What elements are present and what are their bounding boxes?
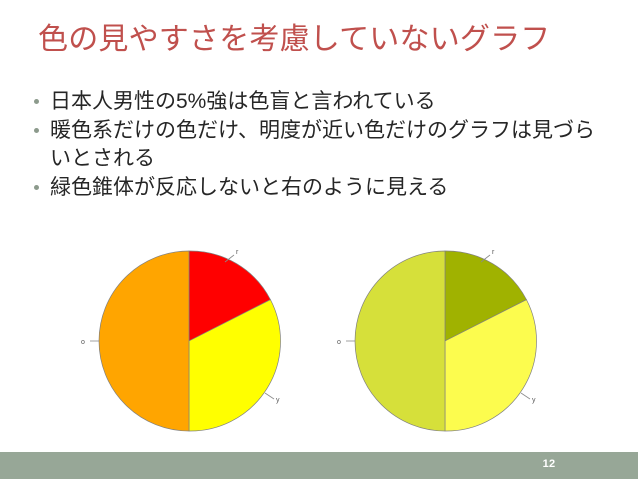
pie-chart-deuteranopia: r y o (318, 238, 568, 443)
pie-chart-deuteranopia-svg: r y o (318, 238, 568, 443)
pie-label-o: o (81, 339, 85, 346)
pie-label-r: r (236, 249, 239, 256)
bullet-dot-icon (34, 128, 39, 133)
pie-chart-warm-colors-svg: r y o (62, 238, 312, 443)
list-item: 緑色錐体が反応しないと右のように見える (30, 174, 610, 201)
pie-label-y: y (532, 397, 536, 404)
page-number: 12 (536, 458, 562, 470)
slide: 色の見やすさを考慮していないグラフ 日本人男性の5%強は色盲と言われている 暖色… (0, 0, 638, 479)
charts-container: r y o r y o (0, 238, 638, 443)
leader-line-y (265, 393, 274, 399)
leader-line-y (521, 393, 530, 399)
pie-chart-warm-colors: r y o (62, 238, 312, 443)
bullet-text: 日本人男性の5%強は色盲と言われている (50, 90, 436, 113)
bullet-text: 暖色系だけの色だけ、明度が近い色だけのグラフは見づらいとされる (50, 119, 595, 169)
bullet-dot-icon (34, 99, 39, 104)
bullet-text: 緑色錐体が反応しないと右のように見える (50, 176, 448, 199)
pie-label-o: o (337, 339, 341, 346)
pie-slice-o (99, 251, 189, 431)
bullet-dot-icon (34, 185, 39, 190)
pie-label-y: y (276, 397, 280, 404)
list-item: 日本人男性の5%強は色盲と言われている (30, 88, 610, 115)
page-title: 色の見やすさを考慮していないグラフ (38, 22, 608, 59)
bullet-list: 日本人男性の5%強は色盲と言われている 暖色系だけの色だけ、明度が近い色だけのグ… (30, 88, 610, 203)
pie-slice-o (355, 251, 445, 431)
pie-label-r: r (492, 249, 495, 256)
list-item: 暖色系だけの色だけ、明度が近い色だけのグラフは見づらいとされる (30, 117, 610, 172)
